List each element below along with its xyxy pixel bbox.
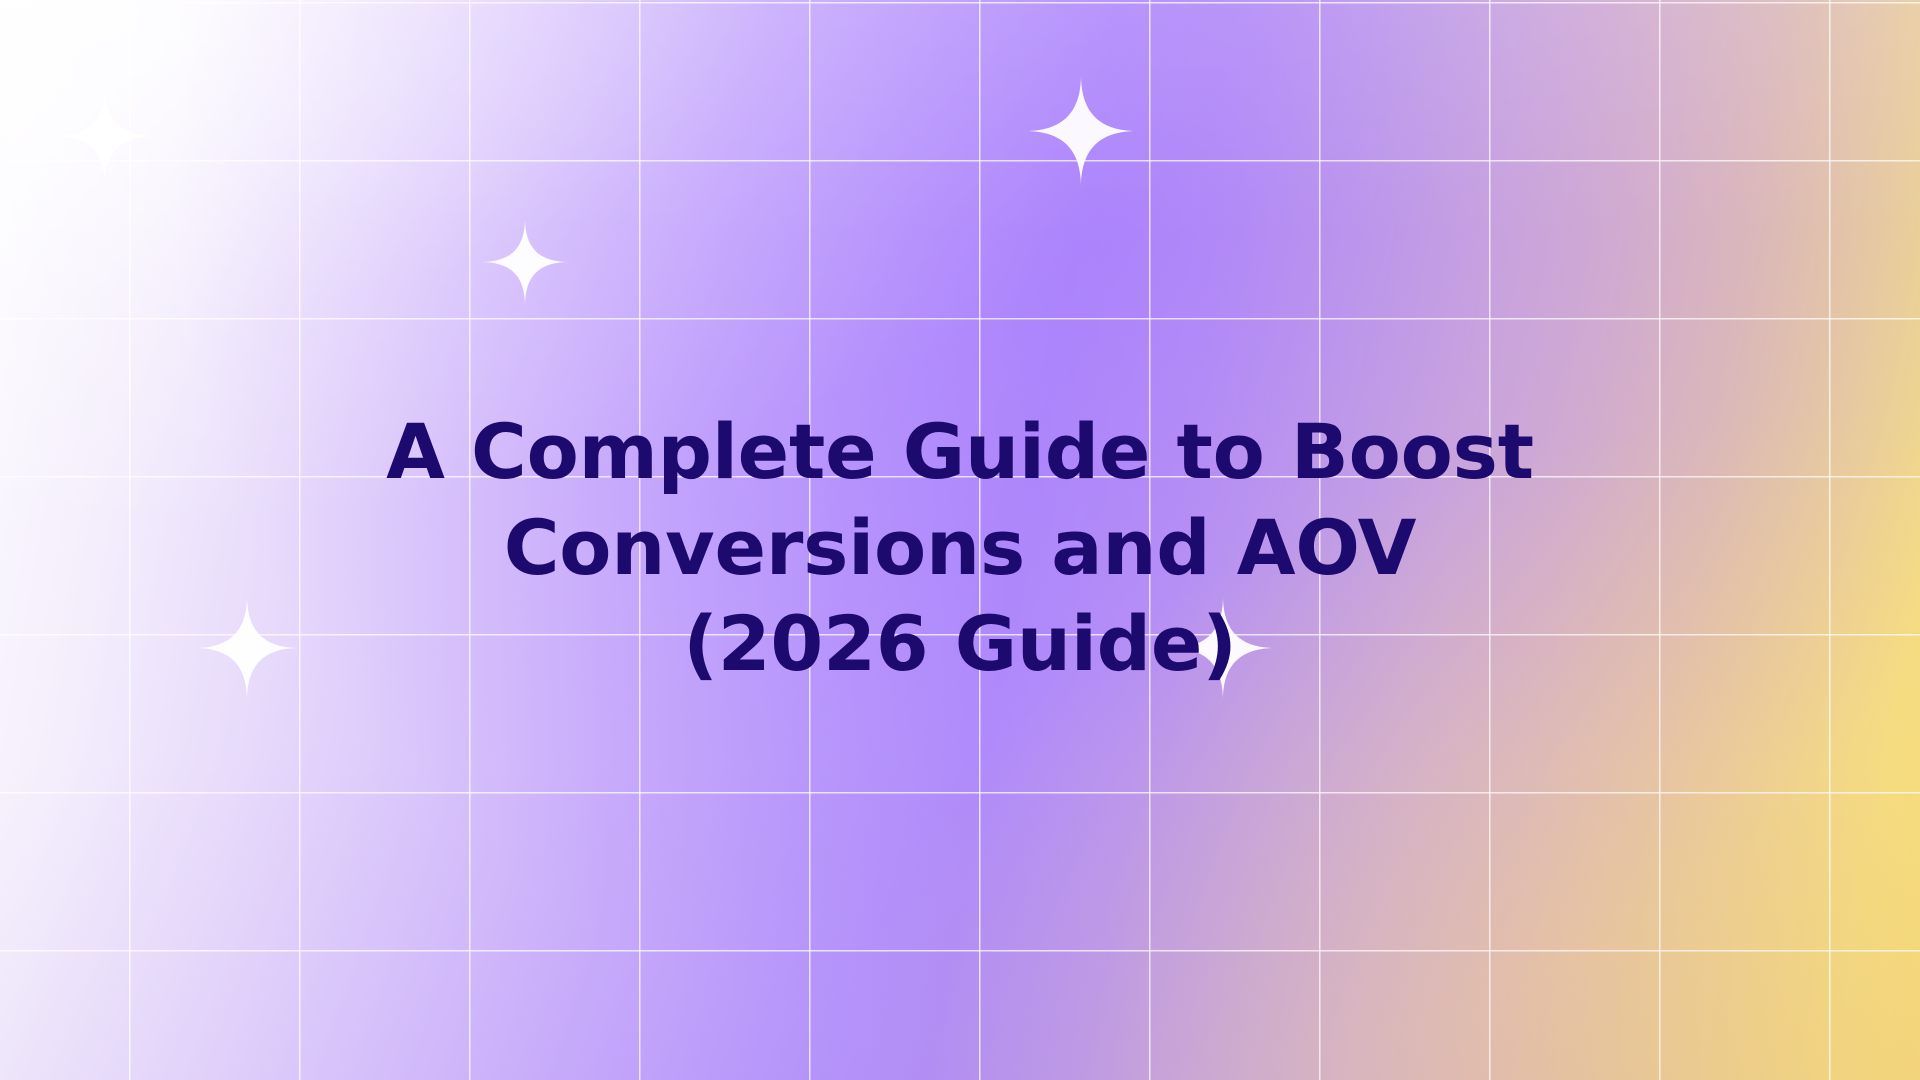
headline-container: A Complete Guide to Boost Conversions an… (0, 0, 1920, 1080)
hero-banner: A Complete Guide to Boost Conversions an… (0, 0, 1920, 1080)
page-title: A Complete Guide to Boost Conversions an… (386, 404, 1534, 691)
page-title-line-1: A Complete Guide to Boost (386, 404, 1534, 500)
page-title-line-2: Conversions and AOV (386, 500, 1534, 596)
page-title-line-3: (2026 Guide) (386, 596, 1534, 692)
